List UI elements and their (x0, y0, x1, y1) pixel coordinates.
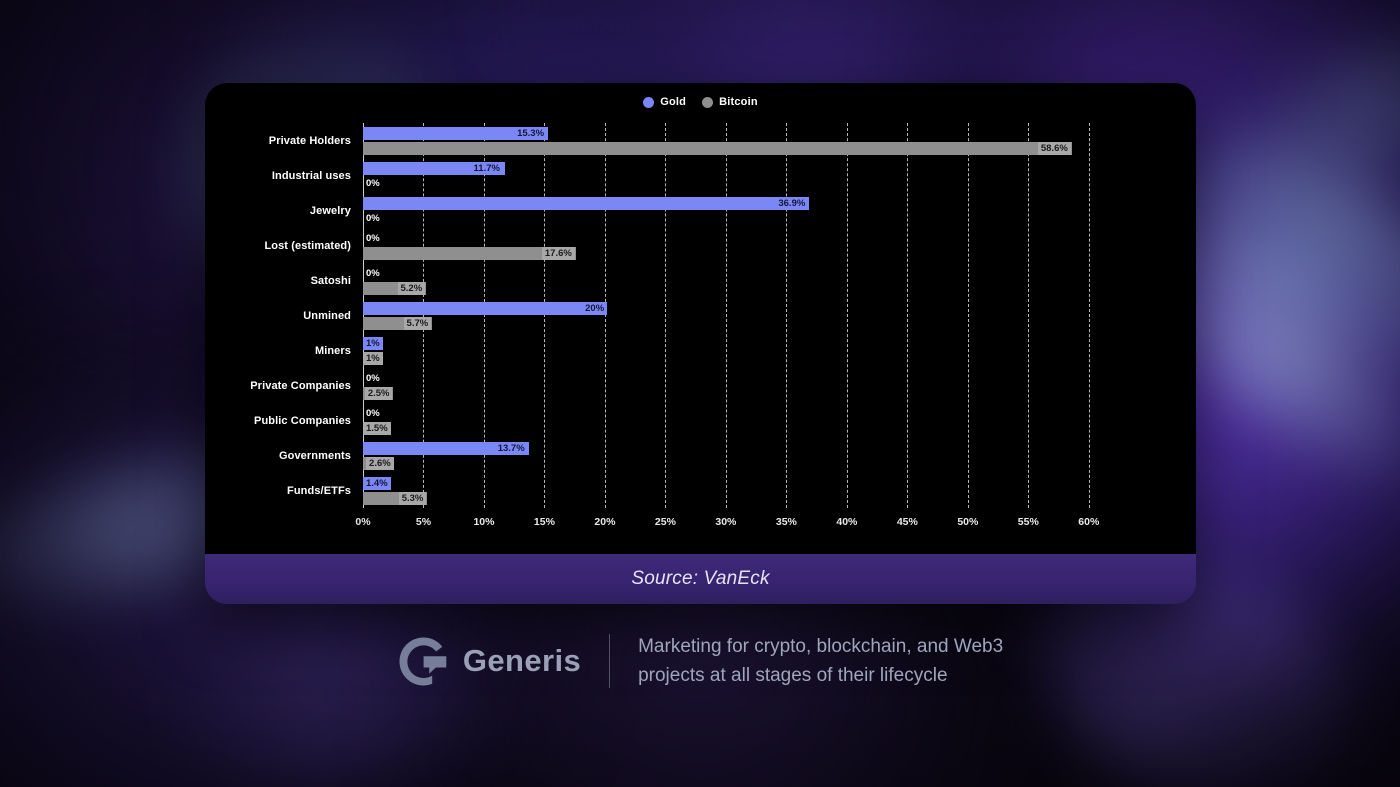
plot-area: 15.3%58.6%11.7%0%36.9%0%0%17.6%0%5.2%20%… (363, 123, 1113, 508)
bar-value-label: 5.7% (404, 317, 432, 330)
bar-rect-bitcoin (363, 142, 1072, 155)
category-label: Public Companies (205, 415, 351, 427)
x-tick-label: 60% (1078, 516, 1099, 528)
bar-value-label: 58.6% (1038, 142, 1071, 155)
chart-card: GoldBitcoin Private HoldersIndustrial us… (205, 83, 1196, 604)
bar-value-label: 1.4% (363, 477, 391, 490)
category-axis-labels: Private HoldersIndustrial usesJewelryLos… (205, 123, 363, 508)
grid-line (786, 123, 787, 508)
source-text: Source: VanEck (631, 568, 769, 590)
bar-value-label: 11.7% (471, 162, 503, 175)
generis-logo-icon (397, 635, 449, 687)
x-tick-label: 5% (416, 516, 431, 528)
bar-value-label: 2.5% (365, 387, 393, 400)
x-tick-label: 55% (1018, 516, 1039, 528)
legend-swatch-bitcoin-icon (702, 97, 713, 108)
source-band: Source: VanEck (205, 554, 1196, 604)
category-label: Private Companies (205, 380, 351, 392)
bar-value-label: 1% (363, 337, 383, 350)
bar-value-label: 20% (582, 302, 607, 315)
brand-tagline: Marketing for crypto, blockchain, and We… (610, 632, 1003, 690)
x-tick-label: 10% (473, 516, 494, 528)
legend-label: Bitcoin (719, 96, 758, 108)
x-tick-label: 50% (957, 516, 978, 528)
category-label: Unmined (205, 310, 351, 322)
legend-item-bitcoin[interactable]: Bitcoin (702, 96, 758, 108)
grid-line (968, 123, 969, 508)
bar-value-label: 5.2% (398, 282, 426, 295)
category-label: Satoshi (205, 275, 351, 287)
grid-line (726, 123, 727, 508)
category-label: Miners (205, 345, 351, 357)
bar-rect-gold (363, 302, 605, 315)
grid-line (1028, 123, 1029, 508)
x-axis-labels: 0%5%10%15%20%25%30%35%40%45%50%55%60% (363, 508, 1113, 538)
category-label: Lost (estimated) (205, 240, 351, 252)
category-label: Jewelry (205, 205, 351, 217)
x-tick-label: 20% (594, 516, 615, 528)
bar-value-label: 2.6% (366, 457, 394, 470)
bar-value-label: 17.6% (542, 247, 575, 260)
grid-line (847, 123, 848, 508)
screenshot-stage: GoldBitcoin Private HoldersIndustrial us… (0, 0, 1400, 787)
grid-line (665, 123, 666, 508)
grid-line (544, 123, 545, 508)
brand-footer: Generis Marketing for crypto, blockchain… (0, 632, 1400, 690)
x-tick-label: 30% (715, 516, 736, 528)
legend-label: Gold (660, 96, 686, 108)
brand-lockup: Generis (397, 635, 609, 687)
legend-item-gold[interactable]: Gold (643, 96, 686, 108)
bar-value-label: 36.9% (775, 197, 808, 210)
bar-value-label: 0% (364, 372, 383, 385)
bar-rect-gold (363, 197, 809, 210)
plot-wrapper: Private HoldersIndustrial usesJewelryLos… (205, 123, 1196, 554)
chart-legend: GoldBitcoin (205, 96, 1196, 108)
category-label: Industrial uses (205, 170, 351, 182)
legend-swatch-gold-icon (643, 97, 654, 108)
brand-name: Generis (463, 643, 581, 679)
grid-line (907, 123, 908, 508)
x-tick-label: 35% (776, 516, 797, 528)
bar-value-label: 15.3% (514, 127, 547, 140)
bar-value-label: 0% (364, 407, 383, 420)
bar-value-label: 0% (364, 177, 383, 190)
category-label: Governments (205, 450, 351, 462)
x-tick-label: 40% (836, 516, 857, 528)
brand-tagline-line-1: Marketing for crypto, blockchain, and We… (638, 632, 1003, 661)
category-label: Private Holders (205, 135, 351, 147)
bar-value-label: 5.3% (399, 492, 427, 505)
bar-value-label: 0% (364, 267, 383, 280)
grid-line (605, 123, 606, 508)
bar-value-label: 13.7% (495, 442, 528, 455)
bar-value-label: 0% (364, 212, 383, 225)
bar-value-label: 1.5% (363, 422, 391, 435)
brand-tagline-line-2: projects at all stages of their lifecycl… (638, 661, 1003, 690)
chart-panel: GoldBitcoin Private HoldersIndustrial us… (205, 83, 1196, 554)
bar-value-label: 0% (364, 232, 383, 245)
x-tick-label: 25% (655, 516, 676, 528)
bar-value-label: 1% (363, 352, 383, 365)
grid-line (1089, 123, 1090, 508)
x-tick-label: 45% (897, 516, 918, 528)
x-tick-label: 15% (534, 516, 555, 528)
x-tick-label: 0% (355, 516, 370, 528)
category-label: Funds/ETFs (205, 485, 351, 497)
